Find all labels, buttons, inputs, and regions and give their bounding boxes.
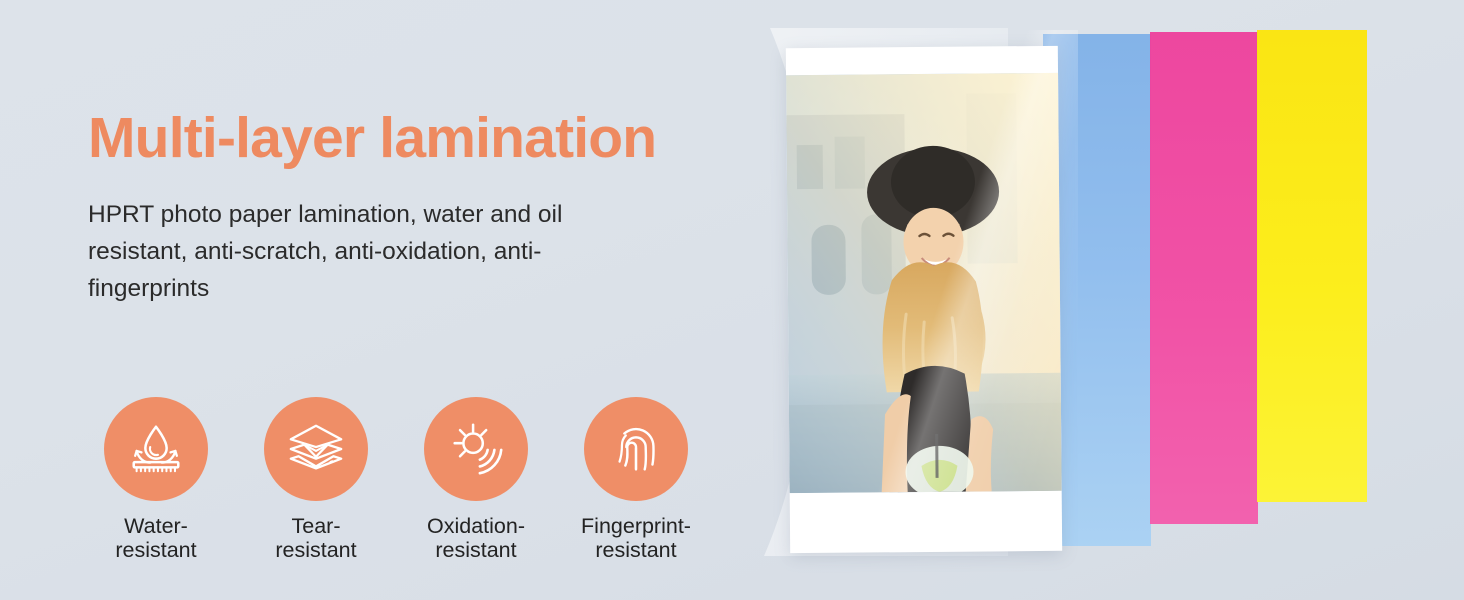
photo-image [786,73,1062,493]
feature-list: Water- resistant Tear- resistant [76,397,716,562]
feature-label: Fingerprint- resistant [581,514,691,562]
lamination-visual [690,0,1464,600]
magenta-layer [1150,32,1258,524]
feature-water-resistant: Water- resistant [76,397,236,562]
feature-label: Oxidation- resistant [427,514,525,562]
page-title: Multi-layer lamination [88,108,748,170]
sun-rays-icon [424,397,528,501]
feature-label: Water- resistant [115,514,196,562]
copy-block: Multi-layer lamination HPRT photo paper … [88,108,748,307]
feature-label: Tear- resistant [275,514,356,562]
layers-icon [264,397,368,501]
fingerprint-icon [584,397,688,501]
photo-print-card [786,46,1062,553]
water-drop-icon [104,397,208,501]
feature-tear-resistant: Tear- resistant [236,397,396,562]
multi-layer-lamination-banner: Multi-layer lamination HPRT photo paper … [0,0,1464,600]
description-text: HPRT photo paper lamination, water and o… [88,170,633,308]
feature-oxidation-resistant: Oxidation- resistant [396,397,556,562]
yellow-layer [1257,30,1367,502]
